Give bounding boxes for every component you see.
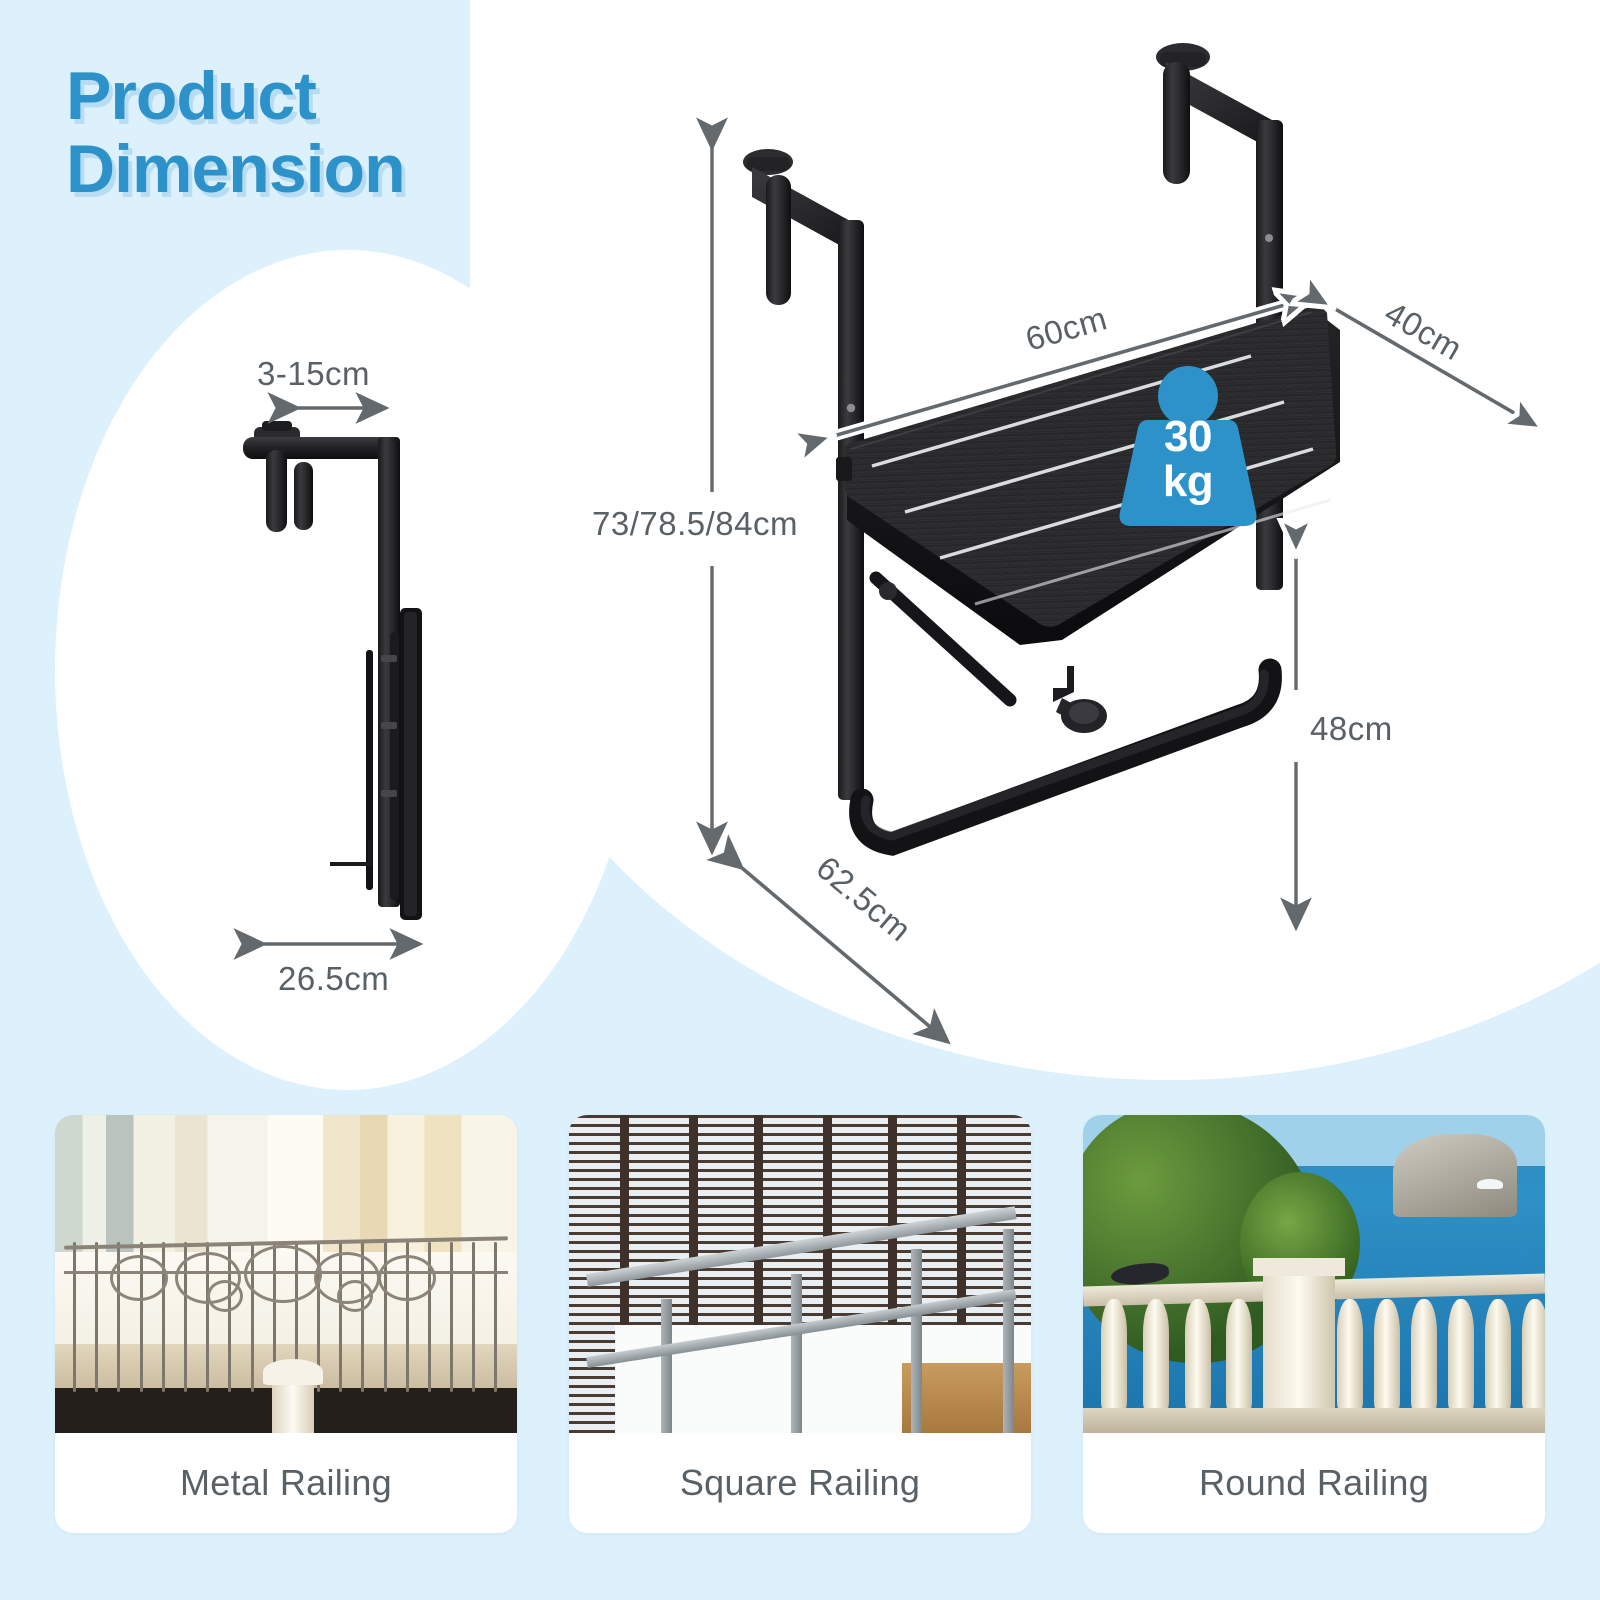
round-railing-photo [1083, 1115, 1545, 1433]
railing-type-cards: Metal Railing [0, 1115, 1600, 1545]
card-label-square-railing: Square Railing [569, 1433, 1031, 1533]
infographic-canvas: Product Dimension [0, 0, 1600, 1600]
lock-knob [1053, 666, 1107, 733]
clamp-range-label: 3-15cm [257, 355, 370, 393]
folded-table-illustration [243, 421, 422, 920]
weight-unit: kg [1098, 459, 1278, 504]
card-square-railing[interactable]: Square Railing [569, 1115, 1031, 1533]
card-round-railing[interactable]: Round Railing [1083, 1115, 1545, 1533]
weight-badge: 30 kg [1098, 362, 1278, 532]
page-title: Product Dimension [66, 60, 586, 207]
bracket-front [743, 149, 864, 490]
bracket-rear [1156, 43, 1283, 300]
page-title-line1: Product [66, 60, 586, 133]
card-label-metal-railing: Metal Railing [55, 1433, 517, 1533]
metal-railing-photo [55, 1115, 517, 1433]
weight-value-text: 30 kg [1098, 414, 1278, 504]
bottom-clearance-label: 48cm [1310, 710, 1393, 748]
card-metal-railing[interactable]: Metal Railing [55, 1115, 517, 1533]
page-title-line2: Dimension [66, 133, 586, 206]
weight-number: 30 [1098, 414, 1278, 459]
folded-width-label: 26.5cm [278, 960, 389, 998]
height-label: 73/78.5/84cm [592, 505, 798, 543]
square-railing-photo [569, 1115, 1031, 1433]
card-label-round-railing: Round Railing [1083, 1433, 1545, 1533]
